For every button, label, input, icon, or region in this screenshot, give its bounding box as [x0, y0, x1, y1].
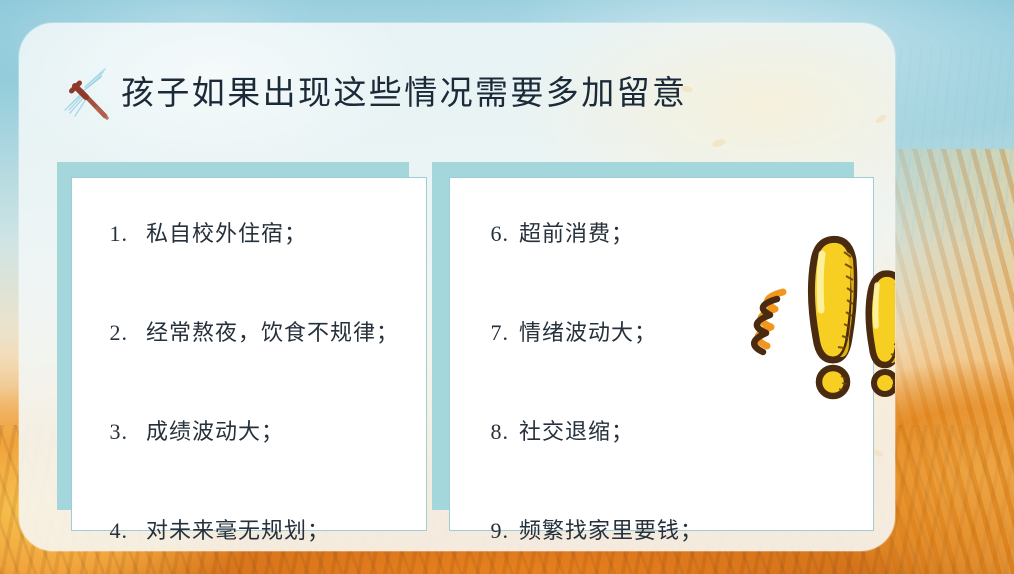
- list-item-number: 3.: [102, 419, 128, 445]
- list-item-text: 频繁找家里要钱；: [519, 513, 703, 545]
- list-item-text: 情绪波动大；: [519, 315, 657, 347]
- list-item-text: 超前消费；: [519, 216, 634, 248]
- right-list: 6. 超前消费； 7. 情绪波动大； 8. 社交退缩； 9. 频繁找家里要钱；: [450, 178, 873, 530]
- list-item: 1. 私自校外住宿；: [72, 178, 426, 277]
- list-item: 9. 频繁找家里要钱；: [450, 475, 873, 551]
- left-list: 1. 私自校外住宿； 2. 经常熬夜，饮食不规律； 3. 成绩波动大； 4. 对…: [72, 178, 426, 530]
- list-item-text: 对未来毫无规划；: [146, 513, 330, 545]
- content-panel: 孩子如果出现这些情况需要多加留意 1. 私自校外住宿； 2. 经常熬夜，饮食不规…: [19, 23, 895, 551]
- list-item: 8. 社交退缩；: [450, 376, 873, 475]
- left-card: 1. 私自校外住宿； 2. 经常熬夜，饮食不规律； 3. 成绩波动大； 4. 对…: [71, 177, 427, 531]
- list-item: 4. 对未来毫无规划；: [72, 475, 426, 551]
- list-item-number: 1.: [102, 221, 128, 247]
- dragonfly-icon: [61, 66, 117, 122]
- list-item: 6. 超前消费；: [450, 178, 873, 277]
- list-item-text: 成绩波动大；: [146, 414, 284, 446]
- list-item-number: 6.: [479, 221, 509, 247]
- list-item: 3. 成绩波动大；: [72, 376, 426, 475]
- page-title-row: 孩子如果出现这些情况需要多加留意: [61, 66, 687, 122]
- slide-canvas: 孩子如果出现这些情况需要多加留意 1. 私自校外住宿； 2. 经常熬夜，饮食不规…: [0, 0, 1014, 574]
- list-item-text: 经常熬夜，饮食不规律；: [146, 315, 399, 347]
- list-item: 7. 情绪波动大；: [450, 277, 873, 376]
- list-item-text: 私自校外住宿；: [146, 216, 307, 248]
- list-item-text: 社交退缩；: [519, 414, 634, 446]
- list-item: 2. 经常熬夜，饮食不规律；: [72, 277, 426, 376]
- list-item-number: 2.: [102, 320, 128, 346]
- left-list-card-group: 1. 私自校外住宿； 2. 经常熬夜，饮食不规律； 3. 成绩波动大； 4. 对…: [57, 162, 429, 532]
- page-title: 孩子如果出现这些情况需要多加留意: [121, 78, 687, 111]
- list-item-number: 7.: [479, 320, 509, 346]
- list-item-number: 4.: [102, 518, 128, 544]
- list-item-number: 8.: [479, 419, 509, 445]
- right-list-card-group: 6. 超前消费； 7. 情绪波动大； 8. 社交退缩； 9. 频繁找家里要钱；: [432, 162, 874, 532]
- right-card: 6. 超前消费； 7. 情绪波动大； 8. 社交退缩； 9. 频繁找家里要钱；: [449, 177, 874, 531]
- list-item-number: 9.: [479, 518, 509, 544]
